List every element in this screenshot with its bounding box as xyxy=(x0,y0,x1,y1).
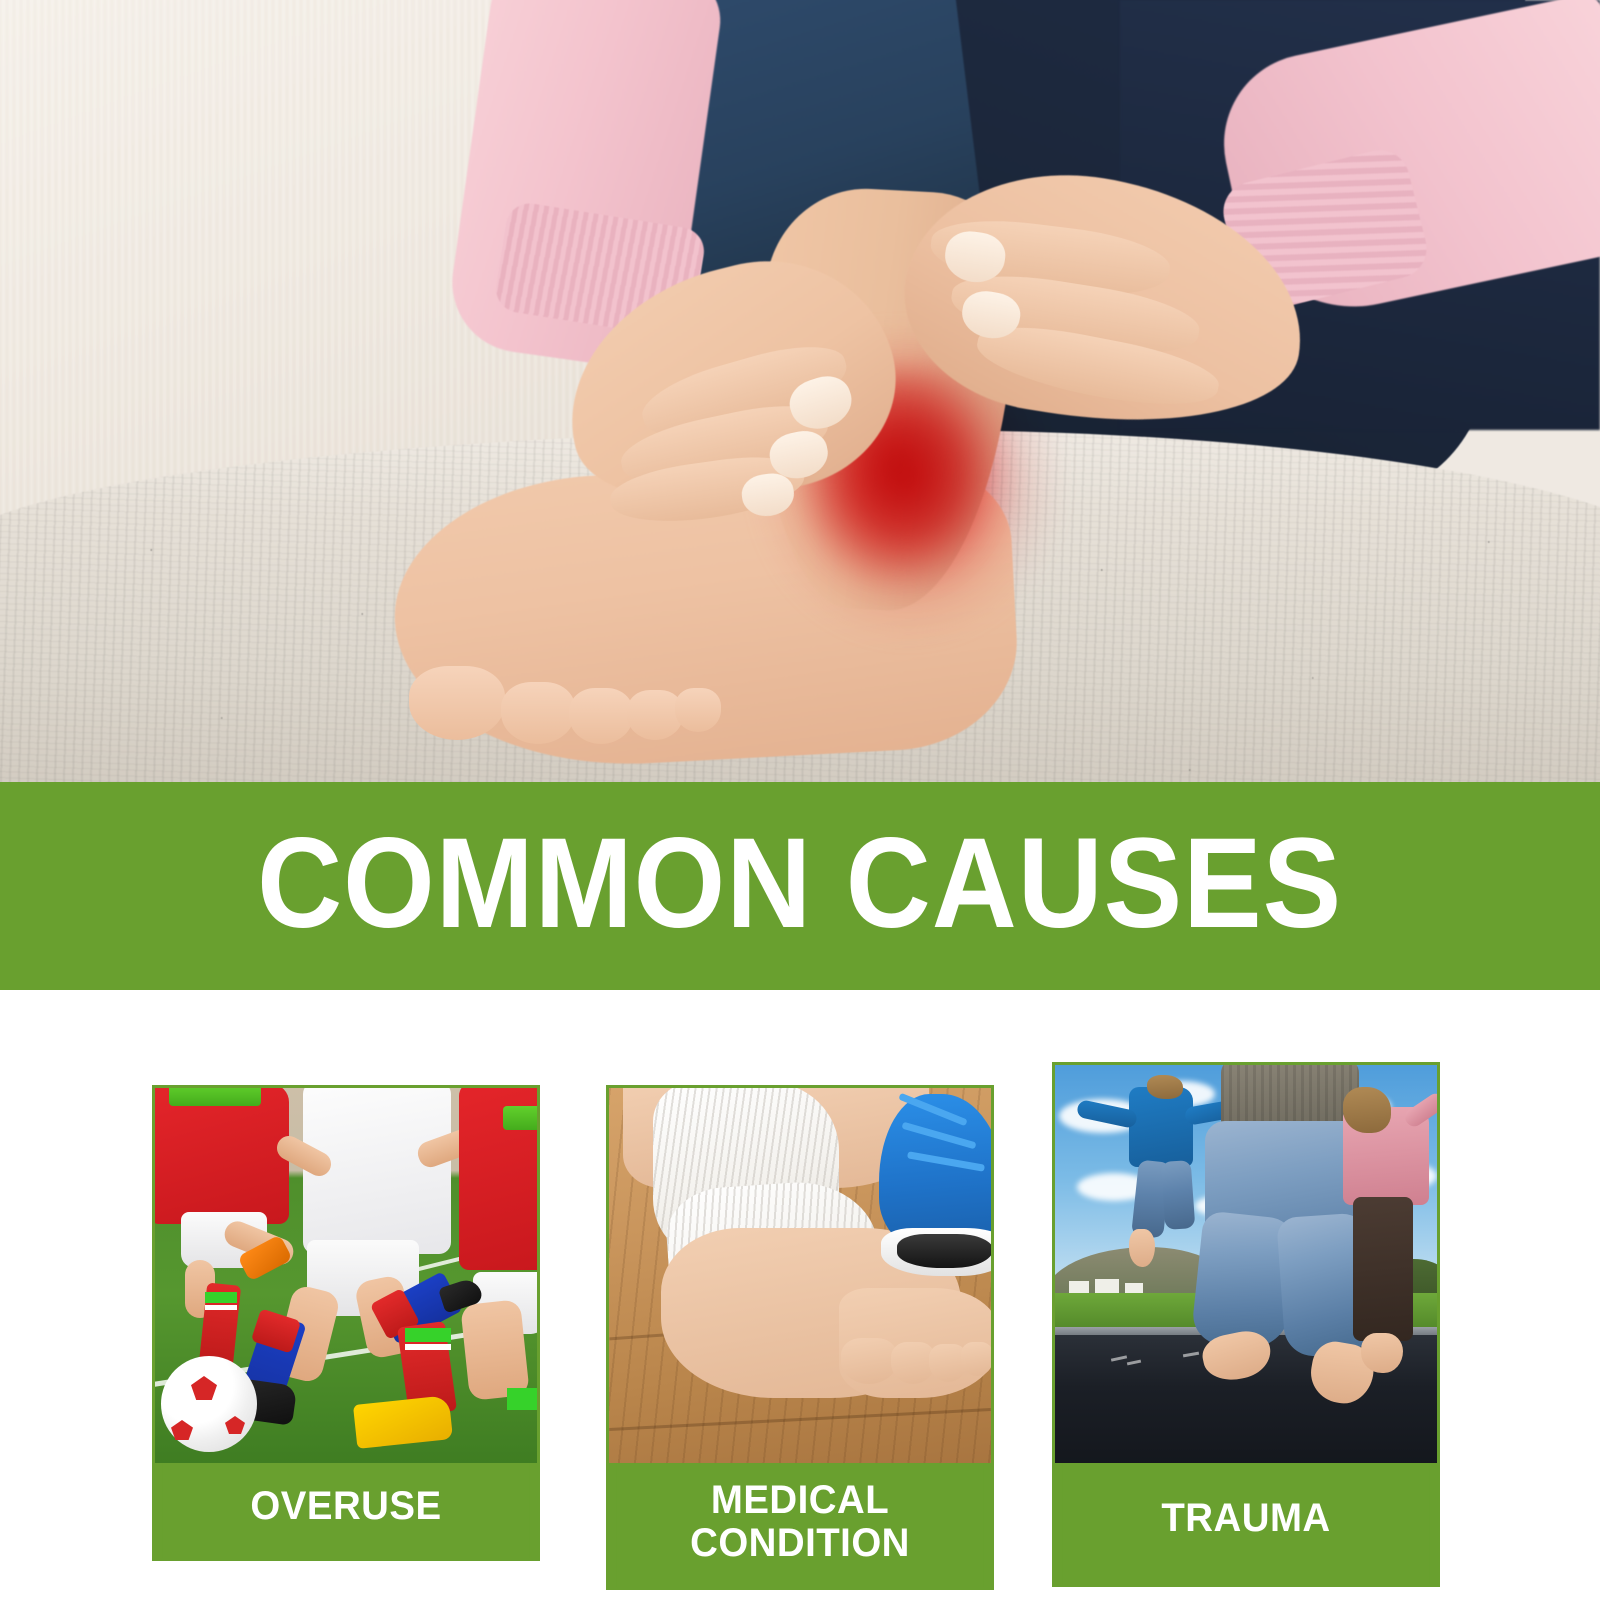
toe-2 xyxy=(501,682,575,744)
child-blue-leg-right xyxy=(1161,1160,1196,1230)
toe-5 xyxy=(675,688,721,732)
cause-card-medical-condition[interactable]: MEDICAL CONDITION xyxy=(606,1085,994,1590)
jersey-shoulder-trim-left xyxy=(169,1088,261,1106)
child-blue-head xyxy=(1147,1075,1183,1099)
toe-big xyxy=(409,666,505,740)
cause-card-label: MEDICAL CONDITION xyxy=(617,1463,984,1587)
sock-stripe-green-2 xyxy=(405,1328,451,1342)
cause-card-label: OVERUSE xyxy=(163,1463,530,1558)
hero-illustration xyxy=(0,0,1600,782)
player-red-left-jersey xyxy=(155,1088,289,1224)
child-blue-jacket xyxy=(1129,1087,1193,1167)
sneaker-outsole xyxy=(897,1234,991,1268)
sock-stripe-white-2 xyxy=(405,1344,451,1350)
cause-card-overuse[interactable]: OVERUSE xyxy=(152,1085,540,1561)
youth-soccer-photo xyxy=(155,1088,537,1463)
cause-card-label: TRAUMA xyxy=(1063,1463,1430,1584)
jersey-shoulder-trim-right xyxy=(503,1106,537,1130)
toe-4 xyxy=(961,1342,991,1376)
toe-big xyxy=(841,1338,897,1384)
toe-4 xyxy=(627,690,683,740)
child-pink-pants xyxy=(1353,1197,1413,1341)
cause-card-trauma[interactable]: TRAUMA xyxy=(1052,1062,1440,1587)
sock-stripe-green-1 xyxy=(205,1292,237,1303)
toes-group xyxy=(405,630,735,750)
hero-image xyxy=(0,0,1600,782)
toe-3 xyxy=(569,688,633,744)
sock-stripe-white-1 xyxy=(205,1305,237,1310)
child-pink-foot xyxy=(1361,1333,1403,1373)
common-causes-banner: COMMON CAUSES xyxy=(0,782,1600,990)
children-trampoline-photo xyxy=(1055,1065,1437,1463)
causes-card-row: OVERUSE MED xyxy=(0,990,1600,1600)
child-blue-foot xyxy=(1129,1229,1155,1267)
sock-stripe-green-3 xyxy=(507,1388,537,1410)
child-pink-hair xyxy=(1343,1087,1391,1133)
player-red-right-leg xyxy=(460,1299,530,1401)
bandaged-foot-photo xyxy=(609,1088,991,1463)
page-title: COMMON CAUSES xyxy=(258,820,1343,952)
